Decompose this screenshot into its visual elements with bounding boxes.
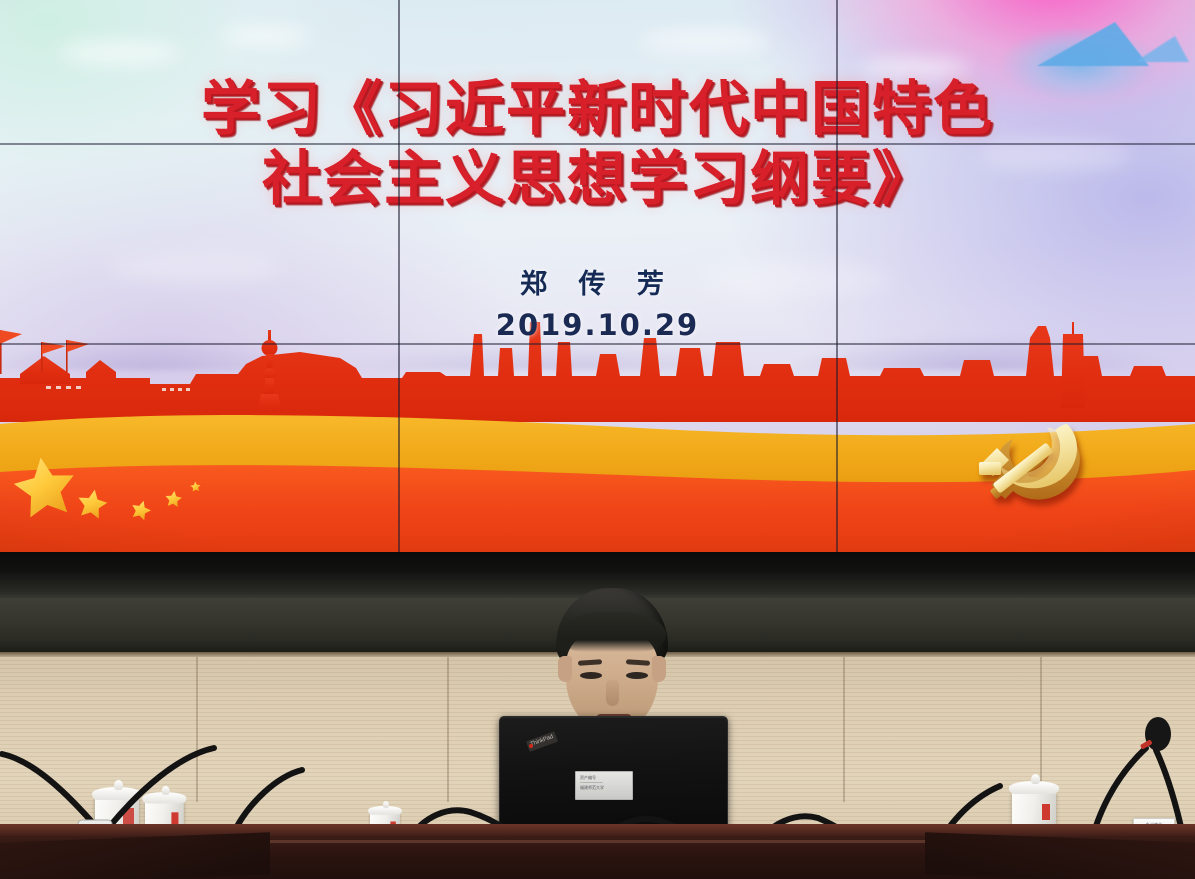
videowall-seam-horizontal [0,343,1195,345]
speaker-hair-front [558,612,666,652]
screenshot-root: 学习《习近平新时代中国特色 社会主义思想学习纲要》 郑 传 芳 2019.10.… [0,0,1195,879]
videowall-seam-vertical [836,0,838,552]
thinkpad-red-dot-icon [529,744,533,748]
thinkpad-laptop[interactable]: ThinkPad 资产编号 ──────── 福建师范大学 [499,716,728,838]
asset-label-line-3: 福建师范大学 [580,785,628,790]
blue-starburst-wing [1135,36,1189,62]
blue-starburst-wing [1037,22,1149,66]
speaker-ear-right [652,656,666,682]
wall-panel-seam [1040,652,1042,802]
desk-bevel-line [255,840,955,843]
asset-label: 资产编号 ──────── 福建师范大学 [575,771,633,800]
tiananmen-silhouette [20,356,70,384]
speaker-eye-right [626,672,648,679]
slide-date: 2019.10.29 [0,308,1195,342]
speaker-nose [606,680,619,706]
speaker-ear-left [558,656,572,682]
wall-panel-seam [843,652,845,802]
teacup-knob [114,780,123,790]
teacup-knob [162,786,170,795]
teacup-knob [383,801,389,808]
slide-title-line-1: 学习《习近平新时代中国特色 [0,74,1195,144]
slide-title-line-2: 社会主义思想学习纲要》 [0,144,1195,214]
wall-panel-seam [196,652,198,802]
teacup-label [1042,804,1050,820]
slide-presenter-name: 郑 传 芳 [0,262,1195,301]
teacup-knob [1031,774,1040,784]
wall-panel-seam [447,652,449,802]
cloud-decor [640,30,770,52]
cpc-hammer-sickle-emblem [975,418,1107,530]
videowall-seam-vertical [398,0,400,552]
videowall-seam-horizontal [0,143,1195,145]
cloud-decor [60,40,180,66]
cloud-decor [220,26,310,46]
led-video-wall: 学习《习近平新时代中国特色 社会主义思想学习纲要》 郑 传 芳 2019.10.… [0,0,1195,552]
speaker-eye-left [580,672,602,679]
